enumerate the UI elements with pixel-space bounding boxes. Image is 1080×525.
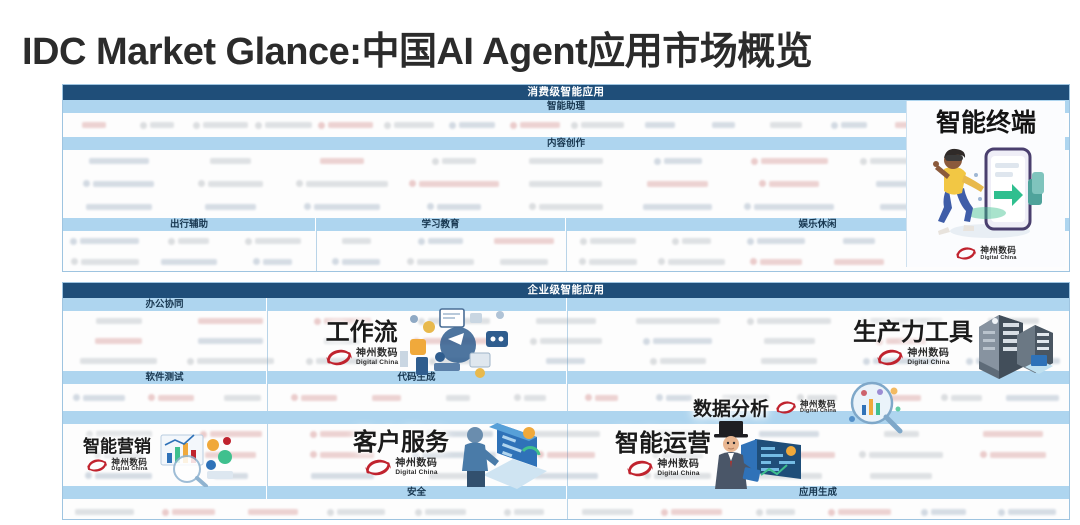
magnifier-data-illustration bbox=[840, 379, 910, 435]
callout-label: 工作流 bbox=[326, 321, 398, 345]
brand-name-en: Digital China bbox=[657, 471, 699, 478]
digital-china-swoosh-icon bbox=[86, 458, 108, 473]
brand-name-cn: 神州数码 bbox=[657, 460, 699, 470]
digital-china-swoosh-icon bbox=[775, 400, 797, 415]
woman-with-smartphone-illustration bbox=[920, 139, 1052, 243]
callout-smart-terminal: 智能终端 bbox=[906, 101, 1065, 267]
enterprise-logo-strip-2 bbox=[63, 384, 1069, 411]
top-hat-businessman-dashboard-illustration bbox=[711, 417, 807, 493]
consumer-column-header-education: 学习教育 bbox=[316, 218, 566, 231]
digital-china-swoosh-icon bbox=[955, 246, 977, 261]
brand-logo-digital-china: 神州数码 Digital China bbox=[955, 246, 1016, 261]
brand-name-en: Digital China bbox=[356, 360, 398, 367]
callout-label: 智能终端 bbox=[936, 103, 1036, 139]
brand-logo-digital-china: 神州数码 Digital China bbox=[86, 458, 147, 473]
brand-name-en: Digital China bbox=[111, 467, 147, 473]
brand-logo-digital-china: 神州数码 Digital China bbox=[775, 400, 836, 415]
brand-name-en: Digital China bbox=[800, 409, 836, 415]
callout-label: 智能营销 bbox=[83, 438, 151, 455]
brand-logo-digital-china: 神州数码 Digital China bbox=[626, 459, 699, 478]
brand-name-cn: 神州数码 bbox=[395, 459, 437, 469]
brand-name-cn: 神州数码 bbox=[907, 349, 949, 359]
callout-productivity-tools: 生产力工具 神州数码 Digital China bbox=[853, 305, 1059, 383]
brand-name-cn: 神州数码 bbox=[800, 400, 836, 409]
callout-customer-service: 客户服务 神州数码 Digital China bbox=[353, 417, 549, 491]
agent-at-dashboard-illustration bbox=[449, 417, 549, 491]
callout-smart-marketing: 智能营销 神州数码 Digital China bbox=[83, 423, 243, 487]
callout-label: 生产力工具 bbox=[853, 321, 973, 345]
callout-label: 智能运营 bbox=[615, 432, 711, 456]
enterprise-header-software-testing: 软件测试 bbox=[63, 371, 267, 384]
digital-china-swoosh-icon bbox=[876, 348, 904, 367]
enterprise-header-office-collab: 办公协同 bbox=[63, 298, 267, 311]
digital-china-swoosh-icon bbox=[325, 348, 353, 367]
enterprise-logo-strip-4 bbox=[63, 499, 1069, 520]
server-rack-illustration bbox=[973, 305, 1059, 383]
brand-name-en: Digital China bbox=[907, 360, 949, 367]
brand-logo-digital-china: 神州数码 Digital China bbox=[364, 458, 437, 477]
page-title: IDC Market Glance:中国AI Agent应用市场概览 bbox=[22, 20, 812, 75]
digital-china-swoosh-icon bbox=[626, 459, 654, 478]
brand-name-cn: 神州数码 bbox=[980, 246, 1016, 255]
marketing-chart-magnifier-illustration bbox=[151, 423, 243, 487]
brand-logo-digital-china: 神州数码 Digital China bbox=[876, 348, 949, 367]
brand-name-cn: 神州数码 bbox=[356, 349, 398, 359]
enterprise-row4-headers: 安全 应用生成 bbox=[63, 486, 1069, 499]
consumer-panel: 消费级智能应用 智能助理 内容创作 出行辅助 学习教育 娱乐休闲 智能终端 bbox=[62, 84, 1070, 272]
consumer-section-header: 消费级智能应用 bbox=[63, 85, 1069, 100]
digital-china-swoosh-icon bbox=[364, 458, 392, 477]
callout-workflow: 工作流 神州数码 Digital China bbox=[325, 305, 514, 383]
callout-smart-operations: 智能运营 神州数码 Digital China bbox=[615, 417, 807, 493]
enterprise-panel: 企业级智能应用 办公协同 软件测试 代码生成 bbox=[62, 282, 1070, 520]
enterprise-header-row4-left-blank bbox=[63, 486, 267, 499]
brand-name-cn: 神州数码 bbox=[111, 458, 147, 467]
callout-label: 客户服务 bbox=[353, 431, 449, 455]
consumer-column-header-travel: 出行辅助 bbox=[63, 218, 316, 231]
market-glance-page: IDC Market Glance:中国AI Agent应用市场概览 消费级智能… bbox=[0, 0, 1080, 525]
brand-name-en: Digital China bbox=[395, 470, 437, 477]
enterprise-section-header: 企业级智能应用 bbox=[63, 283, 1069, 298]
brand-name-en: Digital China bbox=[980, 256, 1016, 262]
workflow-collage-illustration bbox=[396, 305, 514, 383]
brand-logo-digital-china: 神州数码 Digital China bbox=[325, 348, 398, 367]
